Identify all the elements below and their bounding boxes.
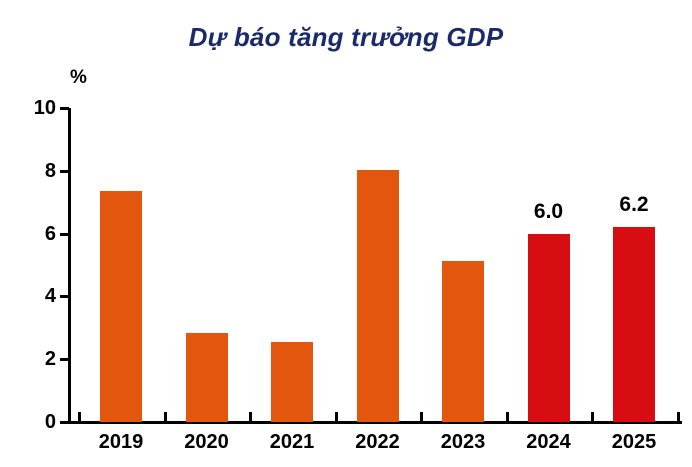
y-axis-tick-label: 8 bbox=[16, 161, 56, 181]
y-axis-tick-label: 10 bbox=[16, 98, 56, 118]
x-axis-tick-mark bbox=[677, 412, 680, 422]
y-axis-tick-mark bbox=[60, 233, 69, 236]
x-axis-label-2023: 2023 bbox=[418, 432, 508, 452]
x-axis-label-2019: 2019 bbox=[76, 432, 166, 452]
x-axis-label-2020: 2020 bbox=[162, 432, 252, 452]
x-axis-tick-mark bbox=[335, 412, 338, 422]
y-axis-line bbox=[68, 108, 71, 424]
x-axis-tick-mark bbox=[506, 412, 509, 422]
y-axis-tick-label: 0 bbox=[16, 412, 56, 432]
x-axis-label-2024: 2024 bbox=[504, 432, 594, 452]
bar-2025[interactable] bbox=[613, 227, 655, 422]
x-axis-tick-mark bbox=[420, 412, 423, 422]
x-axis-tick-mark bbox=[591, 412, 594, 422]
y-axis-tick-mark bbox=[60, 295, 69, 298]
bar-value-label-2024: 6.0 bbox=[509, 201, 589, 222]
bar-value-label-2025: 6.2 bbox=[594, 194, 674, 215]
y-axis-tick-mark bbox=[60, 107, 69, 110]
y-axis-tick-mark bbox=[60, 170, 69, 173]
bar-2021[interactable] bbox=[271, 342, 313, 422]
y-axis-tick-label: 6 bbox=[16, 224, 56, 244]
x-axis-tick-mark bbox=[249, 412, 252, 422]
x-axis-label-2021: 2021 bbox=[247, 432, 337, 452]
x-axis-tick-mark bbox=[164, 412, 167, 422]
bar-2024[interactable] bbox=[528, 234, 570, 422]
plot-area: % 0246810 6.06.2 20192020202120222023202… bbox=[0, 0, 692, 467]
y-axis-tick-label: 4 bbox=[16, 286, 56, 306]
bar-2022[interactable] bbox=[357, 170, 399, 422]
y-axis-unit-label: % bbox=[70, 68, 87, 87]
x-axis-tick-mark bbox=[78, 412, 81, 422]
y-axis-tick-mark bbox=[60, 358, 69, 361]
bar-2020[interactable] bbox=[186, 333, 228, 422]
x-axis-label-2025: 2025 bbox=[589, 432, 679, 452]
bar-2023[interactable] bbox=[442, 261, 484, 422]
x-axis-label-2022: 2022 bbox=[333, 432, 423, 452]
gdp-growth-bar-chart: Dự báo tăng trưởng GDP % 0246810 6.06.2 … bbox=[0, 0, 692, 467]
y-axis-tick-mark bbox=[60, 421, 69, 424]
y-axis-tick-label: 2 bbox=[16, 349, 56, 369]
bar-2019[interactable] bbox=[100, 191, 142, 422]
